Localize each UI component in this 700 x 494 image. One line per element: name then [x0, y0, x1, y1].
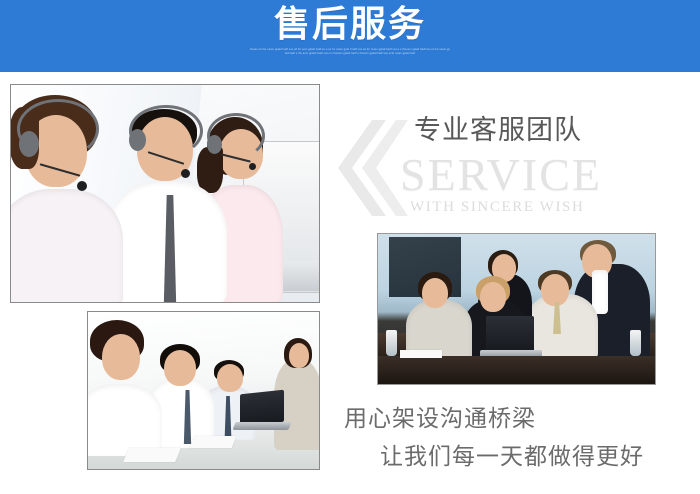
photo-call-center-team: [10, 84, 320, 303]
photo-business-meeting-canvas: [378, 234, 655, 384]
photo-team-training-canvas: [88, 312, 319, 469]
photo-call-center-canvas: [11, 85, 319, 302]
page-title: 售后服务: [0, 4, 700, 46]
headline-service-subtitle: WITH SINCERE WISH: [410, 199, 584, 216]
page-header: 售后服务 Fuaus an the noam gplad hadf sus ad…: [0, 0, 700, 72]
footer-slogan-line-2: 让我们每一天都做得更好: [380, 443, 644, 471]
document-paper-1: [123, 448, 181, 462]
footer-slogan-line-1: 用心架设沟通桥梁: [344, 405, 536, 433]
photo-team-training: [87, 311, 320, 470]
water-glass-left: [386, 330, 397, 356]
double-chevron-left-icon: [336, 118, 408, 218]
meeting-laptop-screen: [486, 316, 534, 352]
headline-chinese: 专业客服团队: [414, 115, 582, 147]
boardroom-table: [378, 356, 655, 384]
water-glass-right: [630, 330, 641, 356]
headline-service-word: SERVICE: [400, 150, 602, 200]
presenter-laptop-screen: [240, 390, 284, 427]
presenter-laptop-base: [232, 422, 291, 430]
header-filler-text: Fuaus an the noam gplad hadf sus ad for …: [250, 48, 450, 56]
document-paper-2: [190, 436, 237, 448]
photo-business-meeting: [377, 233, 656, 385]
meeting-paper: [400, 350, 442, 358]
